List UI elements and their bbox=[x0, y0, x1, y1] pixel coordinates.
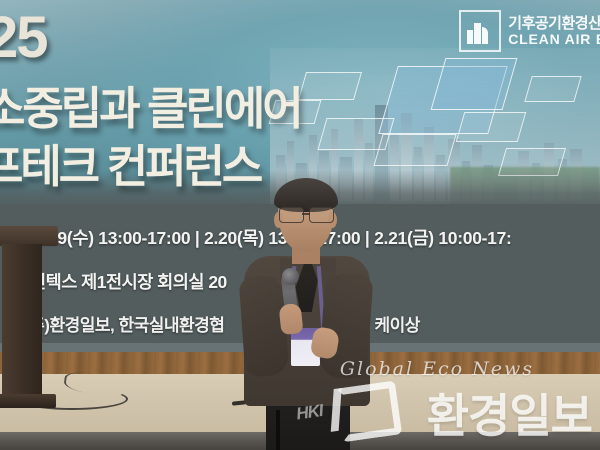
banner-title-line-1: 소중립과 클린에어 bbox=[0, 72, 301, 137]
banner-title-line-2: 프테크 컨퍼런스 bbox=[0, 130, 260, 195]
building-icon bbox=[459, 10, 501, 52]
glasses-icon bbox=[278, 207, 334, 222]
podium-top bbox=[0, 226, 58, 246]
sponsor-name-korean: 기후공기환경산 bbox=[508, 16, 600, 32]
sponsor-logo: 기후공기환경산 CLEAN AIR E bbox=[459, 10, 600, 52]
conference-photo: 기후공기환경산 CLEAN AIR E 25 소중립과 클린에어 프테크 컨퍼런… bbox=[0, 0, 600, 450]
speaker-leg-split bbox=[276, 410, 280, 450]
sponsor-name-english: CLEAN AIR E bbox=[508, 32, 600, 47]
podium-body bbox=[2, 244, 42, 402]
podium-base bbox=[0, 394, 56, 408]
sponsor-text: 기후공기환경산 CLEAN AIR E bbox=[508, 16, 600, 46]
speaker-arm-right bbox=[318, 272, 373, 379]
speaker-person bbox=[236, 178, 376, 450]
podium bbox=[0, 226, 58, 416]
banner-host-right: 케이상 bbox=[374, 316, 419, 335]
banner-year: 25 bbox=[0, 4, 47, 71]
banner-venue: 킨텍스 제1전시장 회의실 20 bbox=[30, 269, 227, 294]
speaker-hand-holding-mic bbox=[278, 303, 303, 335]
